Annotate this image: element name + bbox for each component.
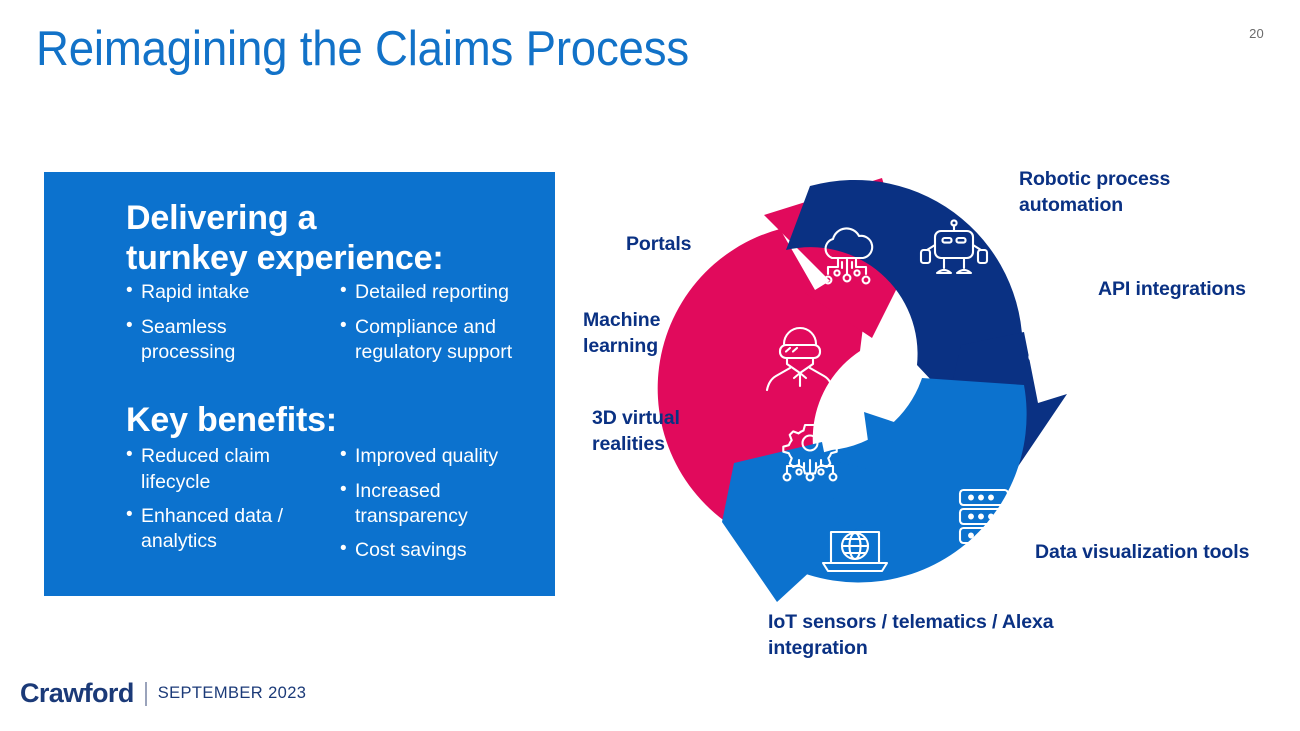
key-benefits-bullets: Reduced claim lifecycle Enhanced data / … [70,444,529,572]
page-number: 20 [1249,26,1264,41]
list-item: Enhanced data / analytics [126,504,318,555]
list-item: Increased transparency [340,479,545,530]
turnkey-bullets-left-column: Rapid intake Seamless processing [126,280,318,374]
list-item: Detailed reporting [340,280,545,305]
globe-api-icon [1029,313,1080,365]
turnkey-bullets: Rapid intake Seamless processing Detaile… [70,280,529,374]
turnkey-heading-line-2: turnkey experience: [126,238,529,278]
label-machine-learning: Machine learning [583,308,708,359]
benefits-panel: Delivering a turnkey experience: Rapid i… [44,172,555,596]
list-item: Rapid intake [126,280,318,305]
list-item: Reduced claim lifecycle [126,444,318,495]
brand-logo: Crawford [20,678,134,709]
list-item: Compliance and regulatory support [340,315,545,366]
turnkey-heading-line-1: Delivering a [126,198,529,238]
footer-divider [145,682,147,706]
page-title: Reimagining the Claims Process [36,22,689,77]
turnkey-bullets-right-column: Detailed reporting Compliance and regula… [340,280,545,374]
key-benefits-right-column: Improved quality Increased transparency … [340,444,545,572]
turnkey-heading: Delivering a turnkey experience: [126,198,529,278]
list-item: Cost savings [340,538,545,563]
footer-date: SEPTEMBER 2023 [158,684,307,703]
footer: Crawford SEPTEMBER 2023 [20,678,306,709]
list-item: Seamless processing [126,315,318,366]
label-api-integrations: API integrations [1098,277,1258,303]
key-benefits-left-column: Reduced claim lifecycle Enhanced data / … [126,444,318,572]
label-3d-virtual-realities: 3D virtual realities [592,406,697,457]
label-robotic-process-automation: Robotic process automation [1019,167,1239,218]
list-item: Improved quality [340,444,545,469]
label-portals: Portals [626,232,746,258]
label-iot-sensors: IoT sensors / telematics / Alexa integra… [768,610,1058,661]
key-benefits-heading: Key benefits: [126,400,529,440]
label-data-visualization-tools: Data visualization tools [1035,540,1260,566]
